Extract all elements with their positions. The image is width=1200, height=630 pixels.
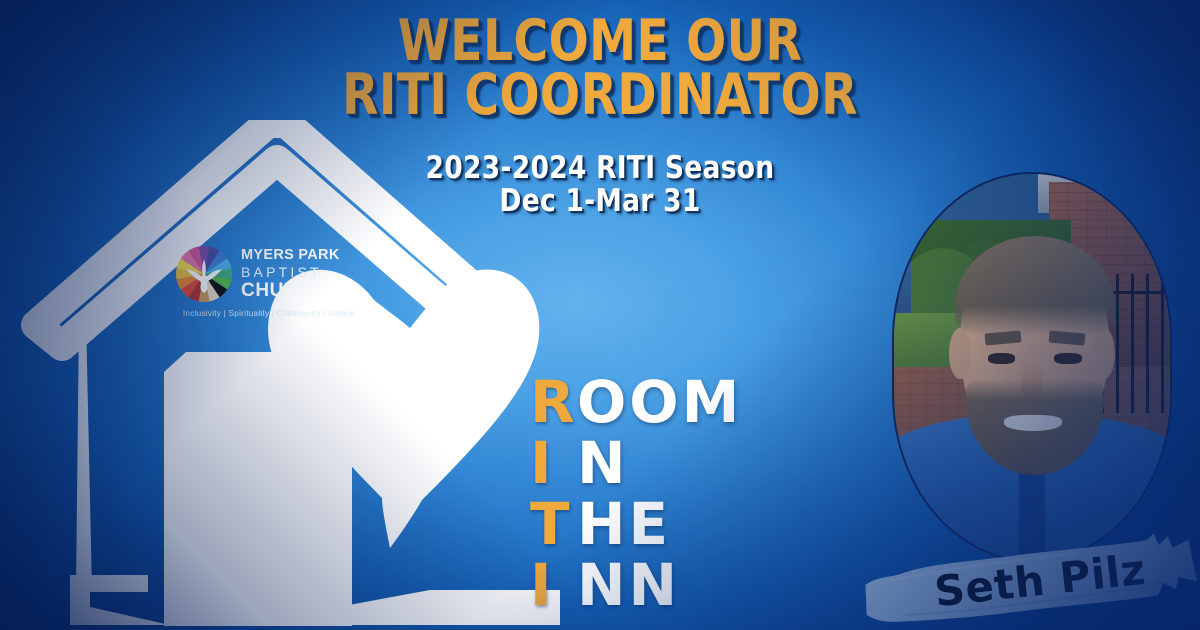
photo-ear-left [949, 328, 971, 378]
photo-ear-right [1093, 328, 1115, 378]
portrait-container [892, 172, 1172, 562]
acronym-rest-letters: N [577, 439, 629, 488]
myers-park-baptist-church-logo: MYERS PARK BAPTIST CHURCH Inclusivity | … [176, 246, 362, 336]
riti-acronym-block: R OOM I N T HE I NN [530, 378, 742, 622]
logo-top-row: MYERS PARK BAPTIST CHURCH [176, 246, 340, 302]
color-wheel-dove-icon [176, 246, 232, 302]
portrait-photo [892, 172, 1172, 562]
photo-eye-right [1054, 353, 1082, 363]
photo-eye-left [988, 353, 1016, 363]
house-left-wall [76, 318, 92, 590]
logo-line-myers-park: MYERS PARK [241, 248, 340, 263]
page-title: WELCOME OUR RITI COORDINATOR [48, 14, 1152, 122]
acronym-row: R OOM [530, 378, 742, 439]
logo-line-church: CHURCH [241, 281, 340, 300]
acronym-row: I NN [530, 561, 742, 622]
acronym-rest-letters: HE [577, 500, 671, 549]
acronym-lead-letter: I [530, 561, 577, 610]
acronym-rest-letters: NN [577, 561, 680, 610]
acronym-lead-letter: I [530, 439, 577, 488]
house-base-left [70, 575, 170, 625]
acronym-lead-letter: R [530, 378, 577, 427]
logo-tagline: Inclusivity | Spirituality | Community |… [176, 309, 362, 318]
logo-wordmark: MYERS PARK BAPTIST CHURCH [241, 248, 340, 300]
photo-smile [1004, 415, 1062, 430]
acronym-rest-letters: OOM [577, 378, 742, 427]
acronym-lead-letter: T [530, 500, 577, 549]
poster-canvas: MYERS PARK BAPTIST CHURCH Inclusivity | … [0, 0, 1200, 630]
logo-line-baptist: BAPTIST [241, 265, 340, 279]
